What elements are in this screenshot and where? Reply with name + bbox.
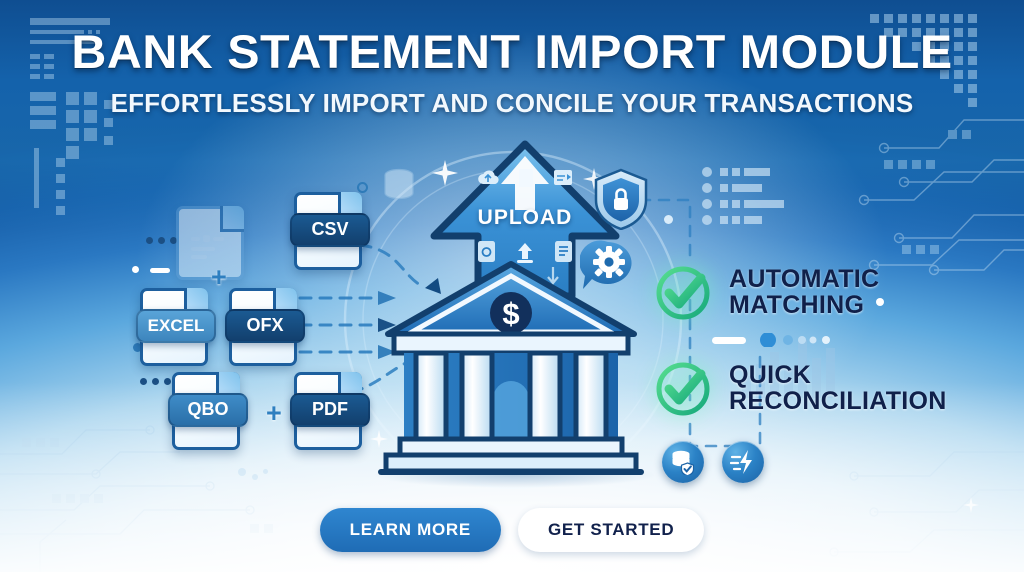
header: BANK STATEMENT IMPORT MODULE EFFORTLESSL… bbox=[0, 24, 1024, 119]
decor-dot bbox=[238, 468, 246, 476]
get-started-button[interactable]: GET STARTED bbox=[518, 508, 704, 552]
feature-automatic-matching: AUTOMATIC MATCHING bbox=[653, 262, 879, 322]
promotional-banner: BANK STATEMENT IMPORT MODULE EFFORTLESSL… bbox=[0, 0, 1024, 572]
file-label-pdf: PDF bbox=[290, 393, 370, 427]
data-transfer-icon bbox=[553, 168, 573, 187]
file-label-ofx: OFX bbox=[225, 309, 305, 343]
learn-more-button[interactable]: LEARN MORE bbox=[320, 508, 501, 552]
decor-dot bbox=[164, 378, 171, 385]
feature-line-1: AUTOMATIC bbox=[729, 266, 879, 292]
file-card-ofx[interactable]: OFX bbox=[229, 288, 291, 360]
bank-building: $ bbox=[378, 258, 644, 478]
database-shield-icon[interactable] bbox=[662, 441, 704, 483]
progress-dots-decor bbox=[712, 333, 832, 352]
decor-dot bbox=[357, 182, 368, 193]
feature-line-2: RECONCILIATION bbox=[729, 388, 947, 414]
database-stack-decor-icon bbox=[382, 168, 416, 204]
file-card-excel[interactable]: EXCEL bbox=[140, 288, 202, 360]
plus-separator: + bbox=[211, 262, 227, 293]
file-label-excel: EXCEL bbox=[136, 309, 216, 343]
decor-dot bbox=[252, 474, 258, 480]
decor-bar bbox=[150, 268, 170, 273]
file-card-decorative bbox=[176, 206, 238, 274]
file-card-csv[interactable]: CSV bbox=[294, 192, 356, 264]
decor-dot bbox=[140, 378, 147, 385]
decor-dot bbox=[158, 237, 165, 244]
decor-dot bbox=[263, 469, 268, 474]
decor-dot bbox=[664, 215, 673, 224]
decor-dot bbox=[152, 378, 159, 385]
decor-dot bbox=[132, 266, 139, 273]
feature-quick-reconciliation: QUICK RECONCILIATION bbox=[653, 358, 947, 418]
speed-bolt-icon[interactable] bbox=[722, 441, 764, 483]
green-check-circle-icon bbox=[653, 262, 713, 322]
file-card-qbo[interactable]: QBO bbox=[172, 372, 234, 444]
feature-label: QUICK RECONCILIATION bbox=[729, 362, 947, 414]
plus-separator: + bbox=[266, 398, 282, 429]
cta-button-group: LEARN MORE GET STARTED bbox=[0, 508, 1024, 552]
page-subtitle: EFFORTLESSLY IMPORT AND CONCILE YOUR TRA… bbox=[0, 88, 1024, 119]
file-label-qbo: QBO bbox=[168, 393, 248, 427]
svg-text:$: $ bbox=[502, 296, 519, 331]
upload-mini-icons-top bbox=[430, 168, 620, 188]
green-check-circle-icon bbox=[653, 358, 713, 418]
feature-label: AUTOMATIC MATCHING bbox=[729, 266, 879, 318]
upload-label: UPLOAD bbox=[430, 206, 620, 230]
data-rows-decoration bbox=[700, 165, 815, 227]
file-label-csv: CSV bbox=[290, 213, 370, 247]
feature-line-1: QUICK bbox=[729, 362, 947, 388]
page-title: BANK STATEMENT IMPORT MODULE bbox=[0, 24, 1024, 79]
file-card-pdf[interactable]: PDF bbox=[294, 372, 356, 444]
document-icon bbox=[518, 168, 534, 188]
decor-dot bbox=[146, 237, 153, 244]
cloud-upload-icon bbox=[477, 168, 499, 186]
feature-line-2: MATCHING bbox=[729, 292, 879, 318]
